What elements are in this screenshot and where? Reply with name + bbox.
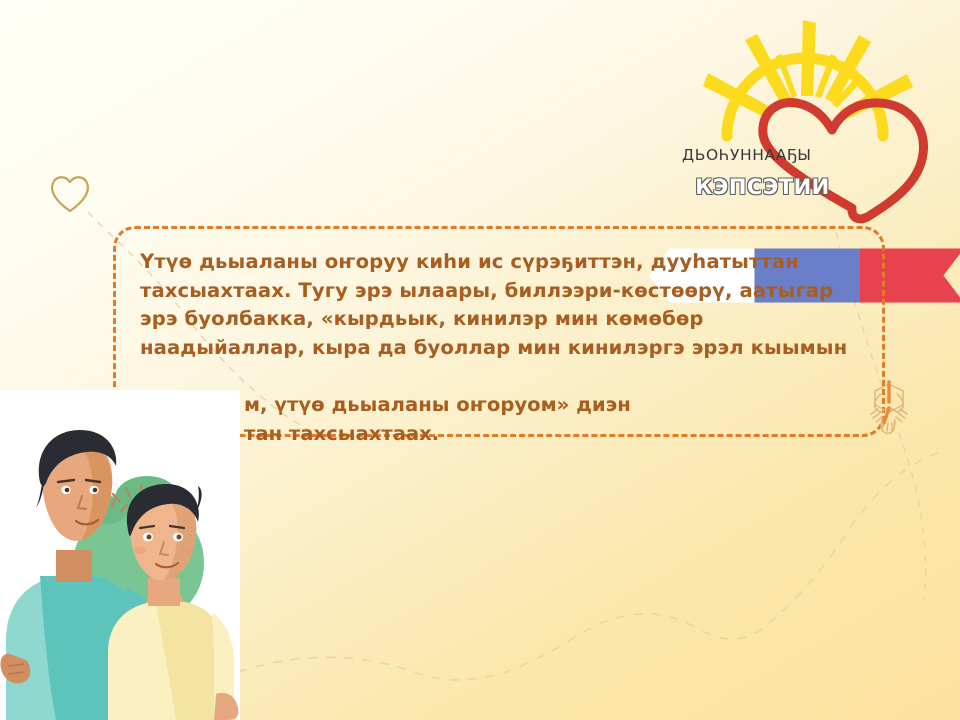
father-and-son-illustration <box>0 390 240 720</box>
helping-hands-icon <box>858 378 920 440</box>
illustration-graphic <box>0 390 240 720</box>
slide-canvas: ДЬОҺУННААҔЫ КЭПСЭТИИ Үтүө дьыаланы оҥору… <box>0 0 960 720</box>
body-paragraph: Үтүө дьыаланы оҥоруу киһи ис сүрэҕиттэн,… <box>140 248 862 362</box>
body-text-line-6: м, үтүө дьыаланы оҥоруом» диэн <box>244 391 631 420</box>
logo-caption: ДЬОҺУННААҔЫ <box>682 146 811 164</box>
logo: ДЬОҺУННААҔЫ КЭПСЭТИИ <box>645 18 960 233</box>
body-text-line-7: тан тахсыахтаах. <box>244 420 439 449</box>
body-text: Үтүө дьыаланы оҥоруу киһи ис сүрэҕиттэн,… <box>140 248 862 362</box>
ribbon-banner: КЭПСЭТИИ <box>649 168 864 205</box>
ribbon-label: КЭПСЭТИИ <box>649 168 864 205</box>
heart-outline-icon <box>48 172 92 214</box>
